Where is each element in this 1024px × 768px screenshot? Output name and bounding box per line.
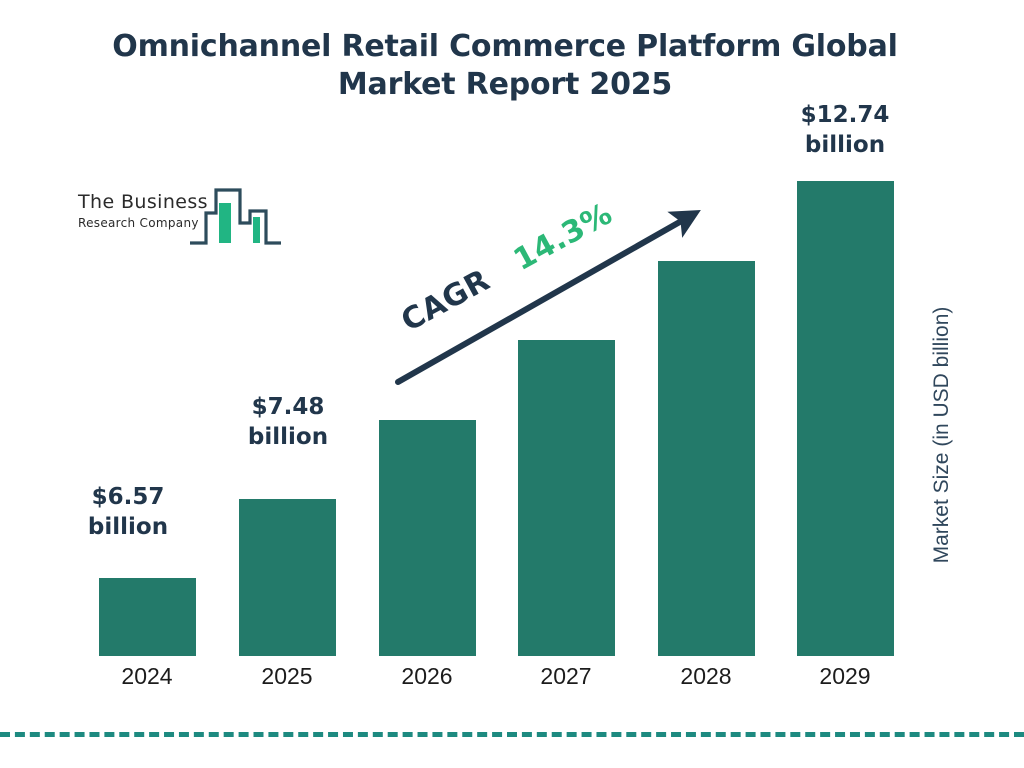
bar-value-unit-2025: billion: [232, 422, 344, 452]
bar-value-amount-2025: $7.48: [232, 392, 344, 422]
bar-value-label-2024: $6.57 billion: [72, 482, 184, 543]
bar-2029: [797, 181, 894, 656]
x-axis-label-2025: 2025: [239, 663, 335, 690]
bar-chart: $6.57 billion $7.48 billion $12.74 billi…: [0, 0, 1024, 768]
x-axis-label-2024: 2024: [99, 663, 195, 690]
bar-value-amount-2024: $6.57: [72, 482, 184, 512]
x-axis-label-2028: 2028: [658, 663, 754, 690]
bar-2025: [239, 499, 336, 656]
x-axis-label-2026: 2026: [379, 663, 475, 690]
bar-value-unit-2029: billion: [789, 130, 901, 160]
bar-value-label-2025: $7.48 billion: [232, 392, 344, 453]
bar-value-unit-2024: billion: [72, 512, 184, 542]
x-axis-label-2027: 2027: [518, 663, 614, 690]
cagr-annotation: CAGR 14.3%: [396, 222, 716, 392]
cagr-text-group: CAGR 14.3%: [396, 196, 619, 339]
cagr-value: 14.3%: [508, 196, 618, 278]
bar-2026: [379, 420, 476, 656]
bottom-divider: [0, 732, 1024, 737]
bar-value-label-2029: $12.74 billion: [789, 100, 901, 161]
cagr-label: CAGR: [396, 263, 496, 339]
y-axis-title: Market Size (in USD billion): [930, 200, 954, 670]
x-axis-label-2029: 2029: [797, 663, 893, 690]
bar-value-amount-2029: $12.74: [789, 100, 901, 130]
bar-2024: [99, 578, 196, 656]
